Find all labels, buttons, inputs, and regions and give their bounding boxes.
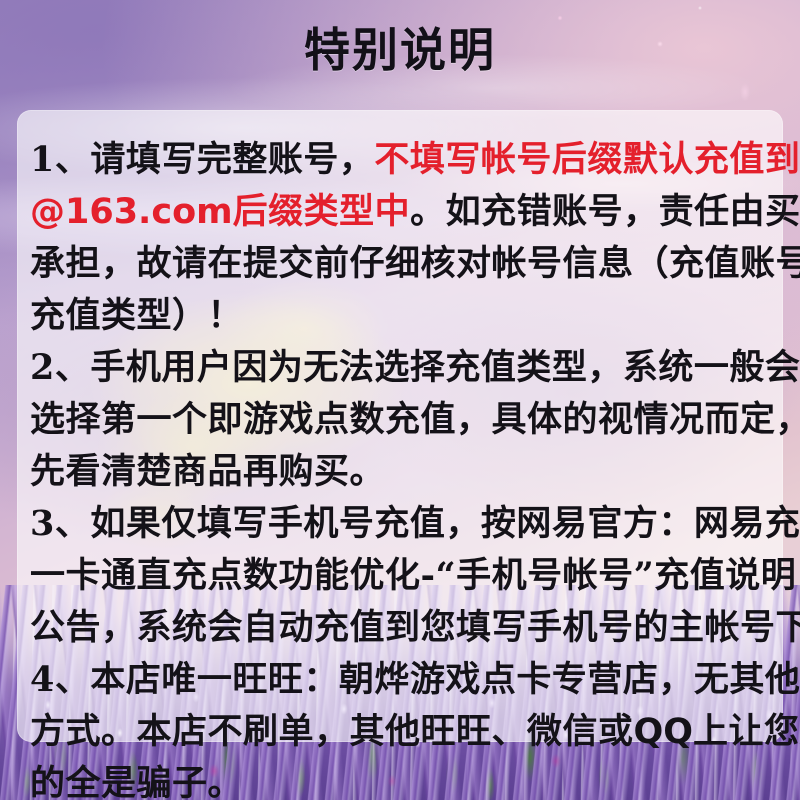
notice-line: 3、如果仅填写手机号充值，按网易官方：网易充值 — [30, 498, 777, 550]
notice-highlight-text: 后缀类型中 — [233, 191, 411, 232]
notice-latin-text: QQ — [634, 712, 694, 752]
notice-line: 公告，系统会自动充值到您填写手机号的主帐号下。 — [30, 602, 777, 654]
notice-text: 4、本店唯一旺旺：朝烨游戏点卡专营店，无其他联系 — [30, 659, 800, 700]
notice-line: 4、本店唯一旺旺：朝烨游戏点卡专营店，无其他联系 — [30, 654, 777, 706]
notice-text-block: 1、请填写完整账号，不填写帐号后缀默认充值到@163.com后缀类型中。如充错账… — [30, 134, 777, 800]
notice-text: 3、如果仅填写手机号充值，按网易官方：网易充值 — [30, 503, 800, 544]
notice-text: 承担，故请在提交前仔细核对帐号信息（充值账号、 — [30, 243, 800, 284]
notice-text: 先看清楚商品再购买。 — [30, 451, 385, 492]
notice-text: 1、请填写完整账号， — [30, 139, 374, 180]
notice-text: 上让您刷单 — [693, 711, 800, 752]
notice-panel: 1、请填写完整账号，不填写帐号后缀默认充值到@163.com后缀类型中。如充错账… — [17, 110, 783, 742]
page-title: 特别说明 — [0, 24, 800, 76]
notice-text: 选择第一个即游戏点数充值，具体的视情况而定，请 — [30, 399, 800, 440]
notice-text: 一卡通直充点数功能优化-“手机号帐号”充值说明 — [30, 555, 796, 596]
notice-line: 方式。本店不刷单，其他旺旺、微信或QQ上让您刷单 — [30, 706, 777, 758]
notice-text: 的全是骗子。 — [30, 763, 243, 800]
notice-line: 的全是骗子。 — [30, 758, 777, 800]
notice-text: 。如充错账号，责任由买家自行 — [410, 191, 800, 232]
notice-line: 选择第一个即游戏点数充值，具体的视情况而定，请 — [30, 394, 777, 446]
notice-highlight-text: 不填写帐号后缀默认充值到 — [374, 139, 800, 180]
notice-text: 方式。本店不刷单，其他旺旺、微信或 — [30, 711, 634, 752]
notice-line: @163.com后缀类型中。如充错账号，责任由买家自行 — [30, 186, 777, 238]
notice-line: 1、请填写完整账号，不填写帐号后缀默认充值到 — [30, 134, 777, 186]
notice-line: 一卡通直充点数功能优化-“手机号帐号”充值说明 — [30, 550, 777, 602]
notice-text: 充值类型）！ — [30, 295, 243, 336]
notice-text: 公告，系统会自动充值到您填写手机号的主帐号下。 — [30, 607, 800, 648]
notice-line: 充值类型）！ — [30, 290, 777, 342]
notice-line: 先看清楚商品再购买。 — [30, 446, 777, 498]
notice-highlight-domain: @163.com — [30, 192, 233, 232]
notice-line: 2、手机用户因为无法选择充值类型，系统一般会默认 — [30, 342, 777, 394]
notice-line: 承担，故请在提交前仔细核对帐号信息（充值账号、 — [30, 238, 777, 290]
special-notice-poster: 特别说明 1、请填写完整账号，不填写帐号后缀默认充值到@163.com后缀类型中… — [0, 0, 800, 800]
notice-text: 2、手机用户因为无法选择充值类型，系统一般会默认 — [30, 347, 800, 388]
